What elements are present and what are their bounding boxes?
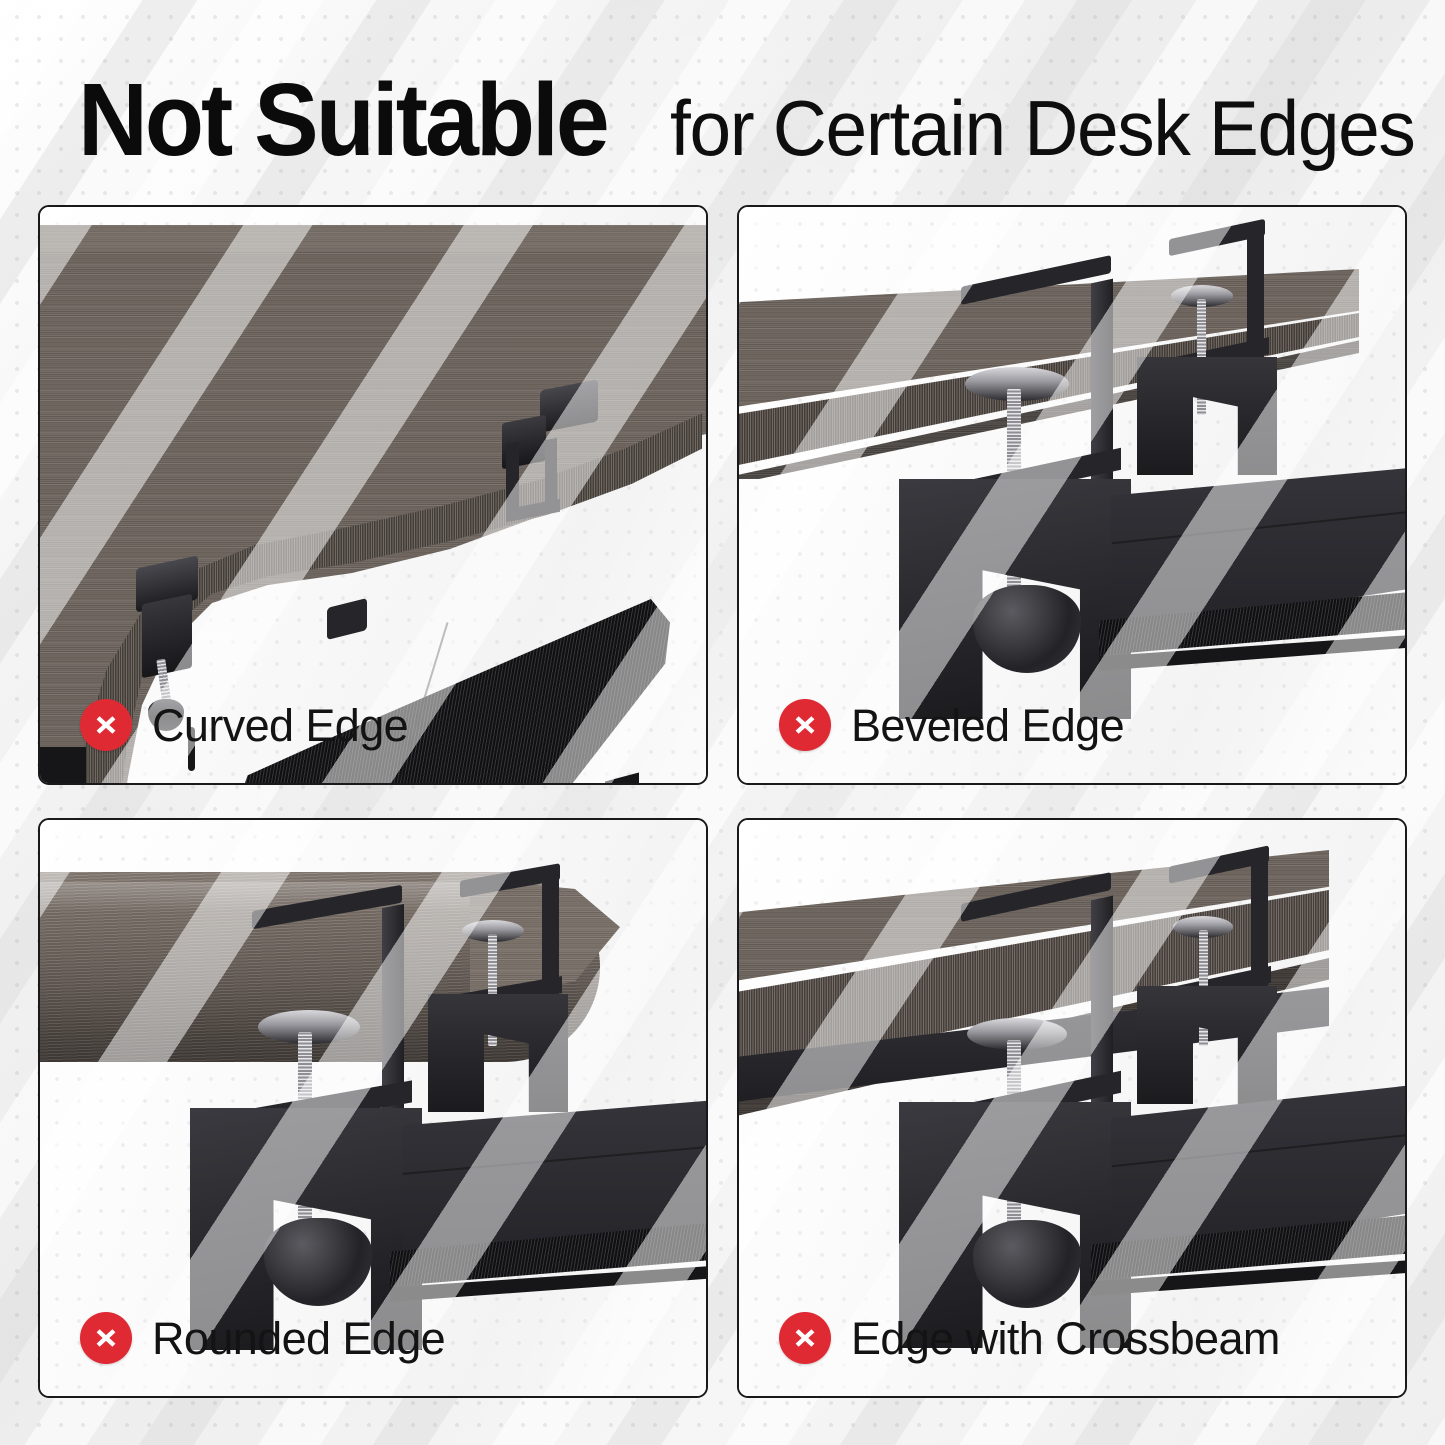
clamp-far-bracket xyxy=(1137,357,1277,475)
label-beveled-edge: Beveled Edge xyxy=(779,699,1124,751)
clamp-right-arm-outer xyxy=(545,438,557,504)
desk-leg-foot xyxy=(40,747,86,783)
photo-edge-with-crossbeam xyxy=(739,820,1405,1396)
keyboard-tray-surface xyxy=(190,599,670,783)
photo-beveled-edge xyxy=(739,207,1405,783)
desk-surface-highlight xyxy=(40,225,706,251)
label-edge-with-crossbeam: Edge with Crossbeam xyxy=(779,1312,1280,1364)
label-rounded-edge: Rounded Edge xyxy=(80,1312,445,1364)
panel-curved-edge[interactable]: Curved Edge xyxy=(38,205,708,785)
clamp-left-body xyxy=(142,594,192,679)
photo-rounded-edge xyxy=(40,820,706,1396)
page-title: Not Suitable for Certain Desk Edges xyxy=(78,68,1408,176)
label-text: Edge with Crossbeam xyxy=(851,1316,1280,1361)
x-mark-icon xyxy=(80,1312,132,1364)
label-curved-edge: Curved Edge xyxy=(80,699,408,751)
title-emphasis: Not Suitable xyxy=(78,68,607,171)
photo-curved-edge xyxy=(40,207,706,783)
keyboard-tray-foot-right xyxy=(605,772,639,783)
keyboard-tray-rear-tab xyxy=(327,598,367,640)
x-mark-icon xyxy=(779,1312,831,1364)
clamp-near-knob[interactable] xyxy=(973,585,1081,673)
panel-beveled-edge[interactable]: Beveled Edge xyxy=(737,205,1407,785)
label-text: Beveled Edge xyxy=(851,703,1124,748)
panel-edge-with-crossbeam[interactable]: Edge with Crossbeam xyxy=(737,818,1407,1398)
x-mark-icon xyxy=(80,699,132,751)
title-subtext: for Certain Desk Edges xyxy=(670,89,1415,167)
clamp-near-knob[interactable] xyxy=(973,1220,1081,1308)
label-text: Curved Edge xyxy=(152,703,408,748)
label-text: Rounded Edge xyxy=(152,1316,445,1361)
clamp-near-knob[interactable] xyxy=(264,1218,372,1306)
panel-rounded-edge[interactable]: Rounded Edge xyxy=(38,818,708,1398)
x-mark-icon xyxy=(779,699,831,751)
